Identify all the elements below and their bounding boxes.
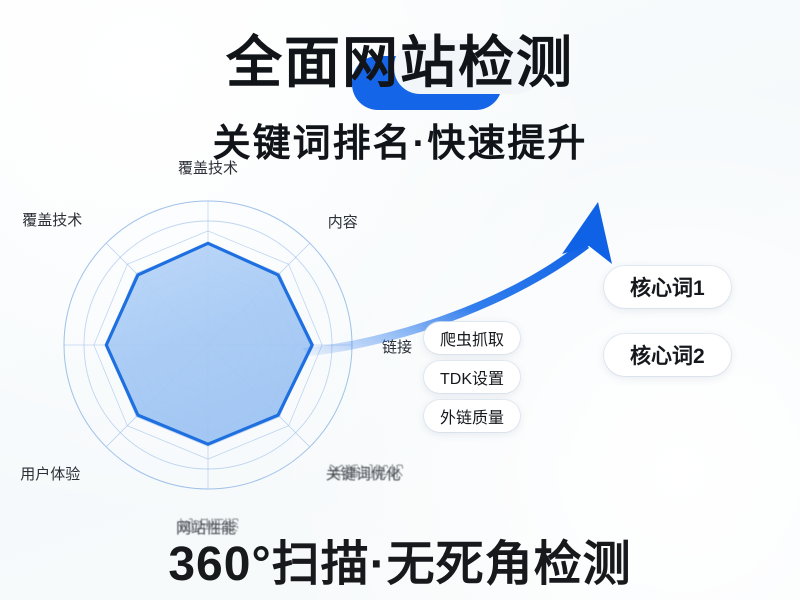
tag-tdk[interactable]: TDK设置 — [424, 361, 520, 393]
radar-axis-label-ghost-3: 关键词优化 — [329, 461, 404, 482]
radar-chart: 覆盖技术内容链接关键词优化关键词优化网站性能网站性能用户体验链接覆盖技术 — [28, 185, 388, 510]
radar-axis-label-3: 关键词优化关键词优化 — [326, 463, 401, 484]
radar-axis-label-5: 用户体验 — [20, 463, 80, 484]
radar-axis-label-1: 内容 — [328, 211, 358, 232]
poster-canvas: 全面网站检测 关键词排名·快速提升 覆盖技术内容链接关键词优化关键词优化网站性能… — [0, 0, 800, 600]
title-suffix: 检测 — [458, 31, 574, 94]
tag-core-keyword-2[interactable]: 核心词2 — [604, 334, 731, 376]
radar-svg — [28, 185, 388, 505]
title-highlight-text: 网站 — [342, 31, 458, 94]
page-subtitle: 关键词排名·快速提升 — [0, 112, 800, 167]
page-footer-title: 360°扫描·无死角检测 — [0, 524, 800, 594]
headline-block: 全面网站检测 — [0, 34, 800, 93]
radar-axis-label-2: 链接 — [382, 336, 412, 357]
radar-geometry — [64, 201, 352, 489]
tag-backlink[interactable]: 外链质量 — [424, 400, 520, 432]
tag-crawl[interactable]: 爬虫抓取 — [424, 322, 520, 354]
title-prefix: 全面 — [226, 31, 342, 94]
radar-axis-label-0: 覆盖技术 — [178, 157, 238, 178]
radar-axis-label-7: 覆盖技术 — [22, 209, 82, 230]
tag-core-keyword-1[interactable]: 核心词1 — [604, 266, 731, 308]
page-title: 全面网站检测 — [226, 34, 574, 93]
